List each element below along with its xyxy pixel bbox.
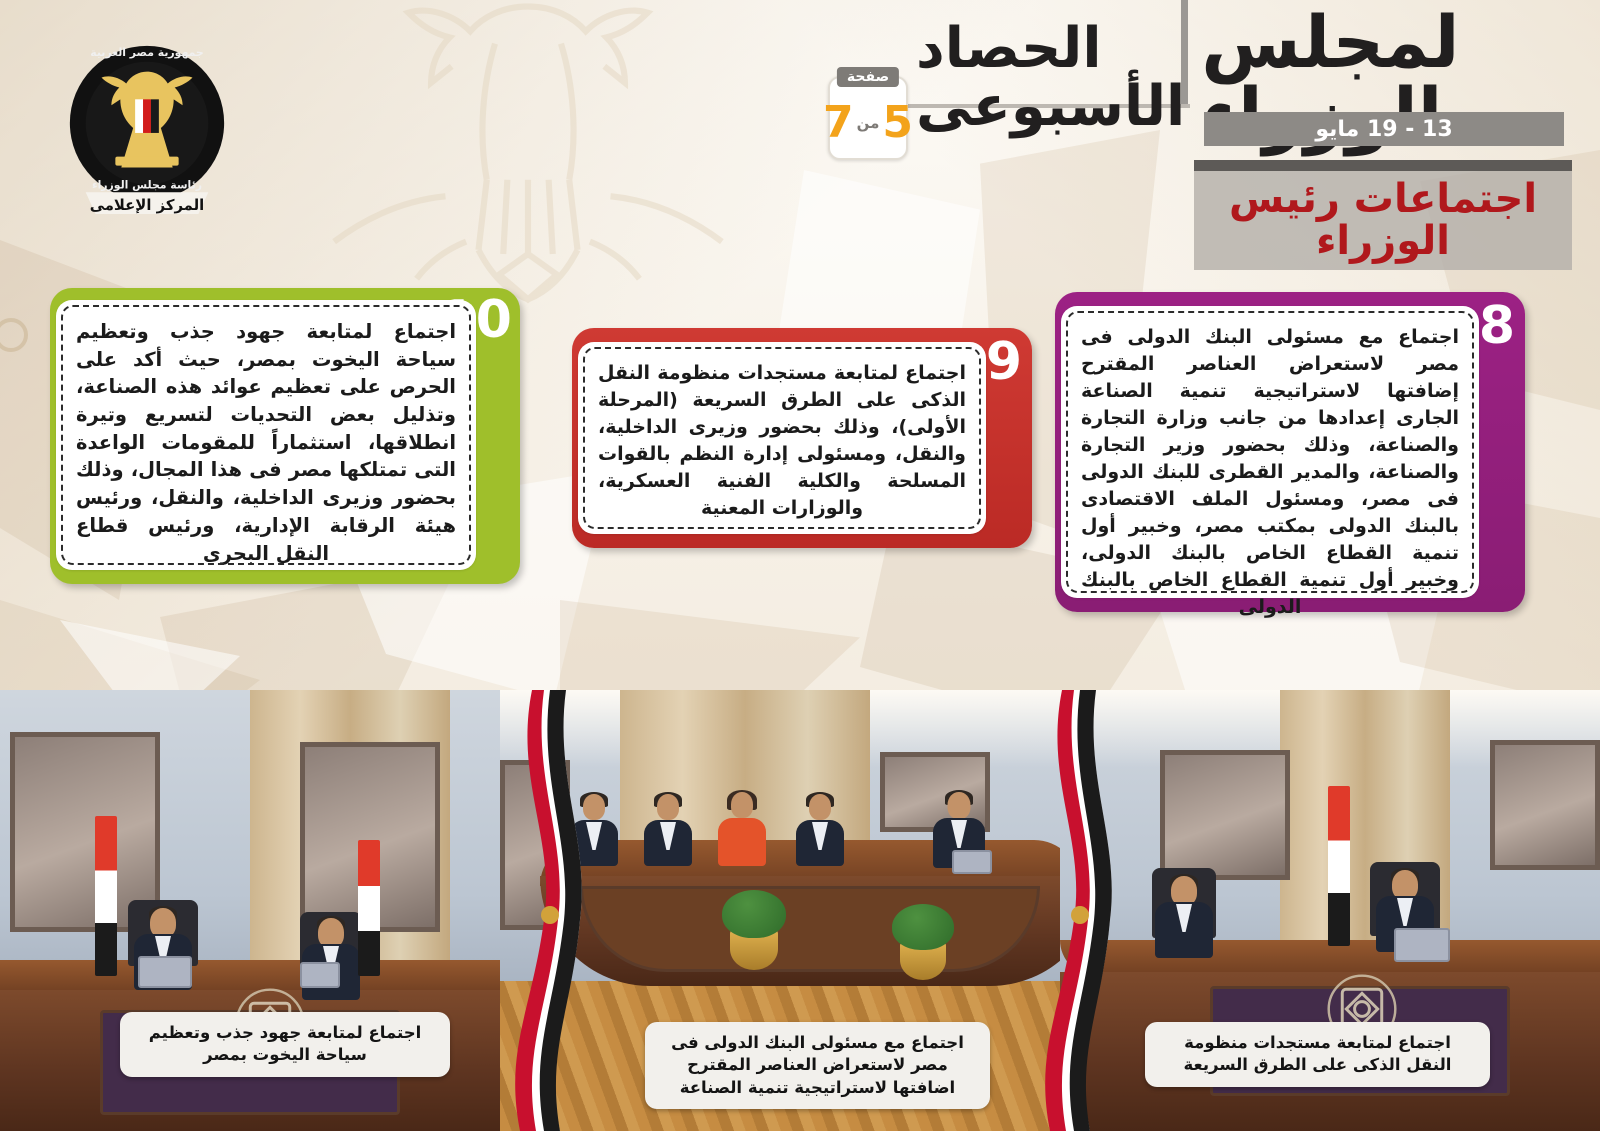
item-text-8: اجتماع مع مسئولى البنك الدولى فى مصر لاس… [1081,324,1459,580]
photo-caption-1: اجتماع لمتابعة جهود جذب وتعظيم سياحة الي… [120,1012,450,1077]
photo-caption-2: اجتماع مع مسئولى البنك الدولى فى مصر لاس… [645,1022,990,1109]
title-line2: الأسبوعى [916,79,1185,135]
government-logo: جمهورية مصر العربية رئاسة مجلس الوزراء ا… [58,38,236,218]
item-text-9: اجتماع لمتابعة مستجدات منظومة النقل الذك… [598,360,966,516]
logo-top-text: جمهورية مصر العربية [90,46,204,59]
page-current: 5 [882,101,913,145]
section-title: اجتماعات رئيس الوزراء [1194,179,1572,262]
item-number-9: 9 [986,336,1022,388]
decor-circle [0,318,28,352]
eagle-watermark [318,0,738,320]
section-header: اجتماعات رئيس الوزراء [1194,160,1572,270]
item-number-8: 8 [1479,300,1515,352]
page-number-badge: صفحة 7 من 5 [828,76,908,160]
item-card-9: 9 اجتماع لمتابعة مستجدات منظومة النقل ال… [572,328,1032,548]
item-card-10-inner: اجتماع لمتابعة جهود جذب وتعظيم سياحة الي… [56,300,476,570]
item-card-9-inner: اجتماع لمتابعة مستجدات منظومة النقل الذك… [578,342,986,534]
date-range-label: 13 - 19 مايو [1315,117,1452,142]
logo-ribbon-text: المركز الإعلامى [90,197,205,214]
logo-mid-text: رئاسة مجلس الوزراء [92,178,202,191]
infographic-page: جمهورية مصر العربية رئاسة مجلس الوزراء ا… [0,0,1600,1131]
item-card-8: 8 اجتماع مع مسئولى البنك الدولى فى مصر ل… [1055,292,1525,612]
page-separator: من [857,114,880,132]
item-card-8-inner: اجتماع مع مسئولى البنك الدولى فى مصر لاس… [1061,306,1479,598]
title-line1: الحصاد [916,21,1102,77]
item-card-10: 10 اجتماع لمتابعة جهود جذب وتعظيم سياحة … [50,288,520,584]
item-text-10: اجتماع لمتابعة جهود جذب وتعظيم سياحة الي… [76,318,456,552]
page-total: 7 [823,101,854,145]
date-range-bar: 13 - 19 مايو [1204,112,1564,146]
photo-caption-3: اجتماع لمتابعة مستجدات منظومة النقل الذك… [1145,1022,1490,1087]
